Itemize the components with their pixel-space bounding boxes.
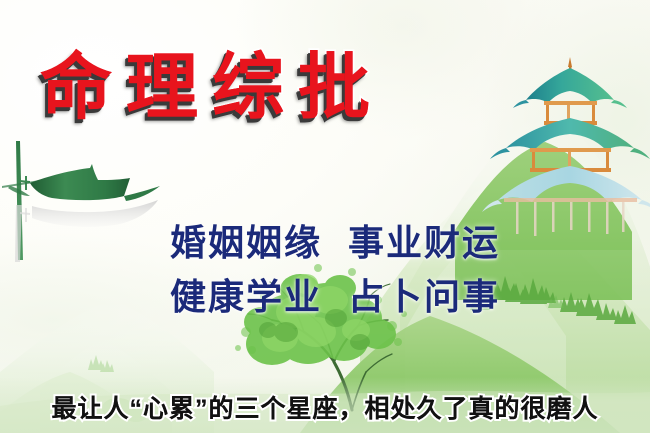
subtitle-1-right: 事业财运 bbox=[348, 222, 500, 263]
subtitle-2-left: 健康学业 bbox=[170, 276, 322, 317]
subtitle-line-1: 婚姻姻缘事业财运 bbox=[170, 214, 500, 266]
caption-outline-text: 最让人“心累”的三个星座，相处久了真的很磨人 bbox=[51, 389, 598, 425]
subtitle-line-2: 健康学业占卜问事 bbox=[170, 268, 500, 320]
poster-image: 命理综批 命理综批 婚姻姻缘事业财运 健康学业占卜问事 最让人“心累”的三个星座… bbox=[0, 0, 650, 433]
caption-outline-layer: 最让人“心累”的三个星座，相处久了真的很磨人 bbox=[0, 389, 650, 425]
subtitle-2-right: 占卜问事 bbox=[348, 276, 500, 317]
poster-title: 命理综批 bbox=[40, 52, 384, 124]
subtitle-1-left: 婚姻姻缘 bbox=[170, 222, 322, 263]
